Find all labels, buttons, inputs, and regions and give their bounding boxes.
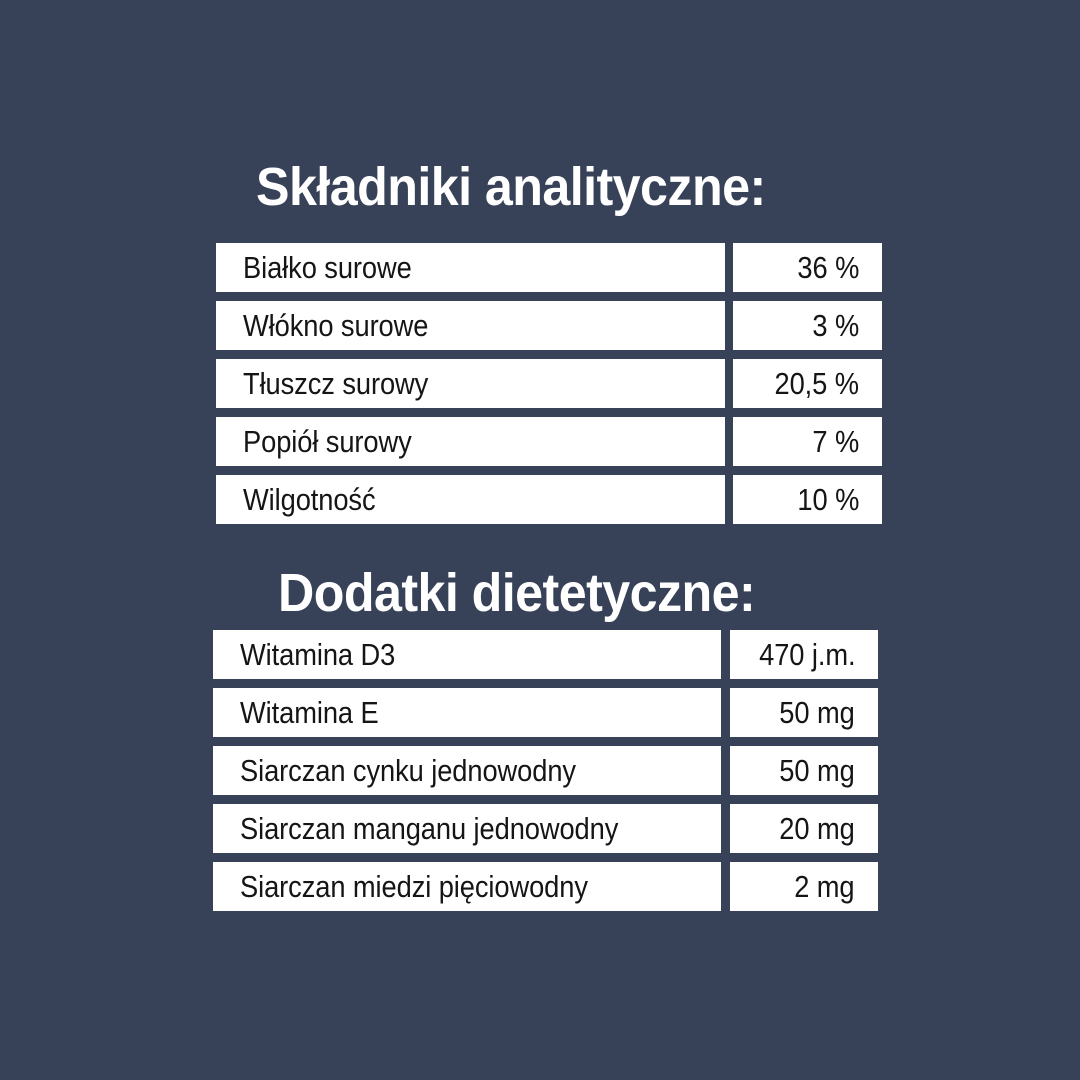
- label-panel: Składniki analityczne: Białko surowe 36 …: [0, 0, 1080, 1080]
- label-text: Siarczan manganu jednowodny: [240, 813, 618, 844]
- heading-analytical-constituents: Składniki analityczne:: [256, 160, 766, 214]
- label-text: Wilgotność: [243, 484, 376, 515]
- value-text: 3 %: [812, 310, 859, 341]
- cell-value: 470 j.m.: [730, 630, 878, 679]
- table-row: Popiół surowy 7 %: [216, 417, 882, 466]
- cell-label: Witamina E: [213, 688, 721, 737]
- cell-label: Tłuszcz surowy: [216, 359, 725, 408]
- cell-value: 2 mg: [730, 862, 878, 911]
- value-text: 7 %: [812, 426, 859, 457]
- cell-label: Siarczan cynku jednowodny: [213, 746, 721, 795]
- table-row: Tłuszcz surowy 20,5 %: [216, 359, 882, 408]
- cell-label: Włókno surowe: [216, 301, 725, 350]
- table-row: Wilgotność 10 %: [216, 475, 882, 524]
- table-analytical-constituents: Białko surowe 36 % Włókno surowe 3 % Tłu…: [216, 243, 882, 524]
- table-row: Siarczan miedzi pięciowodny 2 mg: [213, 862, 878, 911]
- cell-value: 3 %: [733, 301, 882, 350]
- label-text: Siarczan cynku jednowodny: [240, 755, 576, 786]
- cell-label: Popiół surowy: [216, 417, 725, 466]
- table-row: Witamina D3 470 j.m.: [213, 630, 878, 679]
- table-row: Białko surowe 36 %: [216, 243, 882, 292]
- value-text: 2 mg: [795, 871, 855, 902]
- cell-value: 10 %: [733, 475, 882, 524]
- table-row: Włókno surowe 3 %: [216, 301, 882, 350]
- value-text: 50 mg: [780, 755, 855, 786]
- cell-value: 50 mg: [730, 746, 878, 795]
- cell-label: Wilgotność: [216, 475, 725, 524]
- cell-label: Siarczan manganu jednowodny: [213, 804, 721, 853]
- label-text: Siarczan miedzi pięciowodny: [240, 871, 588, 902]
- cell-value: 36 %: [733, 243, 882, 292]
- label-text: Witamina E: [240, 697, 379, 728]
- cell-label: Witamina D3: [213, 630, 721, 679]
- table-row: Siarczan cynku jednowodny 50 mg: [213, 746, 878, 795]
- heading-dietary-additives: Dodatki dietetyczne:: [278, 566, 755, 620]
- label-text: Popiół surowy: [243, 426, 412, 457]
- cell-label: Siarczan miedzi pięciowodny: [213, 862, 721, 911]
- value-text: 470 j.m.: [759, 639, 855, 670]
- table-dietary-additives: Witamina D3 470 j.m. Witamina E 50 mg Si…: [213, 630, 878, 911]
- table-row: Siarczan manganu jednowodny 20 mg: [213, 804, 878, 853]
- cell-value: 20 mg: [730, 804, 878, 853]
- value-text: 20 mg: [780, 813, 855, 844]
- cell-value: 20,5 %: [733, 359, 882, 408]
- cell-value: 7 %: [733, 417, 882, 466]
- value-text: 10 %: [797, 484, 859, 515]
- label-text: Włókno surowe: [243, 310, 428, 341]
- label-text: Witamina D3: [240, 639, 395, 670]
- label-text: Tłuszcz surowy: [243, 368, 428, 399]
- cell-value: 50 mg: [730, 688, 878, 737]
- table-row: Witamina E 50 mg: [213, 688, 878, 737]
- cell-label: Białko surowe: [216, 243, 725, 292]
- value-text: 50 mg: [780, 697, 855, 728]
- label-text: Białko surowe: [243, 252, 412, 283]
- value-text: 20,5 %: [775, 368, 859, 399]
- value-text: 36 %: [797, 252, 859, 283]
